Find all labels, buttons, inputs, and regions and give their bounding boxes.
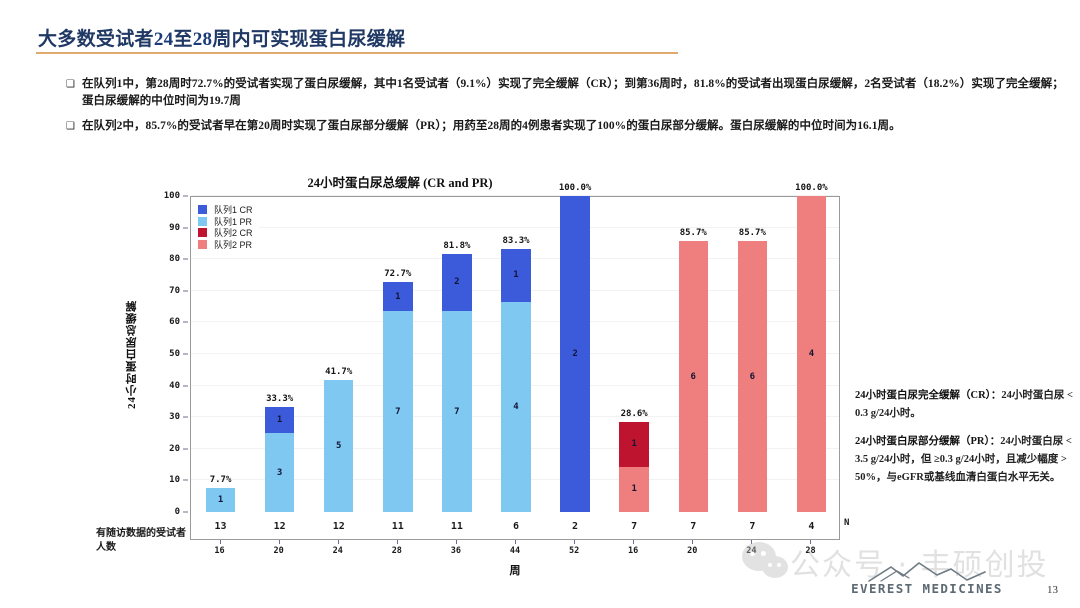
bar-segment-count: 7: [395, 407, 400, 417]
bar-segment-count: 7: [454, 407, 459, 417]
bar-segment[interactable]: 5: [324, 380, 354, 512]
bar[interactable]: 17.7%: [206, 488, 236, 512]
legend-label: 队列2 PR: [214, 238, 252, 251]
bar-segment-count: 6: [691, 372, 696, 382]
x-axis-tick-mark: [692, 540, 693, 544]
note-cr: 24小时蛋白尿完全缓解（CR）：24小时蛋白尿 < 0.3 g/24小时。: [855, 385, 1077, 421]
y-axis-label: 24小时蛋白尿总缓解: [122, 196, 142, 512]
bar-total-label: 28.6%: [621, 409, 648, 419]
bar-total-label: 7.7%: [210, 475, 232, 485]
y-axis-tick: 20: [150, 444, 180, 454]
bar-total-label: 83.3%: [502, 236, 529, 246]
y-axis-tick-mark: [183, 196, 188, 197]
title-part-suffix: 周内可实现蛋白尿缓解: [212, 29, 405, 50]
bullet-item: ❑ 在队列1中，第28周时72.7%的受试者实现了蛋白尿缓解，其中1名受试者（9…: [66, 76, 1066, 109]
n-count-cell: 7: [664, 512, 723, 540]
bar-segment-count: 4: [513, 402, 518, 412]
x-axis-tick: 16: [628, 546, 638, 556]
bar[interactable]: 7281.8%: [442, 254, 472, 512]
y-axis: 0102030405060708090100: [150, 196, 188, 512]
bar-segment[interactable]: 1: [501, 249, 531, 302]
x-axis-tick-mark: [810, 540, 811, 544]
x-axis-tick: 28: [805, 546, 815, 556]
bar[interactable]: 4100.0%: [797, 196, 827, 512]
bar[interactable]: 2100.0%: [560, 196, 590, 512]
x-axis-tick-mark: [220, 540, 221, 544]
bar-segment[interactable]: 4: [501, 302, 531, 512]
x-axis: 1620242836445216202428: [190, 540, 840, 558]
legend-swatch: [198, 228, 207, 237]
n-counts-row: 1312121111627774: [190, 512, 840, 540]
bar-segment-count: 4: [809, 349, 814, 359]
y-axis-tick-mark: [183, 290, 188, 291]
bullet-text: 在队列2中，85.7%的受试者早在第20周时实现了蛋白尿部分缓解（PR）；用药至…: [82, 118, 901, 135]
bar-segment[interactable]: 2: [442, 254, 472, 312]
x-axis-tick-mark: [456, 540, 457, 544]
bar-segment-count: 6: [750, 372, 755, 382]
y-axis-tick: 30: [150, 412, 180, 422]
x-axis-tick: 36: [451, 546, 461, 556]
bar-total-label: 85.7%: [680, 228, 707, 238]
bar-segment[interactable]: 4: [797, 196, 827, 512]
bar-total-label: 33.3%: [266, 394, 293, 404]
n-count-cell: 7: [605, 512, 664, 540]
x-axis-tick: 24: [746, 546, 756, 556]
bar-segment[interactable]: 6: [738, 241, 768, 512]
x-axis-tick: 20: [687, 546, 697, 556]
y-axis-tick: 50: [150, 349, 180, 359]
bar-segment[interactable]: 7: [383, 311, 413, 512]
bar-segment[interactable]: 7: [442, 311, 472, 512]
x-axis-tick-mark: [574, 540, 575, 544]
bar[interactable]: 7172.7%: [383, 282, 413, 512]
bar[interactable]: 3133.3%: [265, 407, 295, 512]
x-axis-tick: 44: [510, 546, 520, 556]
page-title: 大多数受试者24至28周内可实现蛋白尿缓解: [38, 24, 405, 51]
brand-name: EVEREST MEDICINES: [832, 581, 1022, 596]
bar-segment-count: 1: [631, 484, 636, 494]
n-count-cell: 13: [191, 512, 250, 540]
bar-segment-count: 1: [513, 270, 518, 280]
y-axis-tick: 80: [150, 254, 180, 264]
chart-title: 24小时蛋白尿总缓解 (CR and PR): [0, 172, 1080, 191]
gridline: [191, 195, 839, 196]
bar-segment-count: 1: [395, 292, 400, 302]
bar-segment[interactable]: 2: [560, 196, 590, 512]
chart-legend: 队列1 CR队列1 PR队列2 CR队列2 PR: [195, 201, 259, 253]
x-axis-tick-mark: [751, 540, 752, 544]
x-axis-tick: 52: [569, 546, 579, 556]
y-axis-tick: 10: [150, 475, 180, 485]
y-axis-tick-mark: [183, 259, 188, 260]
n-count-cell: 4: [782, 512, 841, 540]
n-axis-marker: N: [844, 518, 849, 528]
chart-title-text: 24小时蛋白尿总缓解 (CR and PR): [307, 172, 492, 191]
bar-segment[interactable]: 1: [619, 422, 649, 467]
bar[interactable]: 1128.6%: [619, 422, 649, 512]
bar-segment-count: 1: [218, 495, 223, 505]
y-axis-tick-mark: [183, 227, 188, 228]
bar[interactable]: 685.7%: [679, 241, 709, 512]
note-pr-heading: 24小时蛋白尿部分缓解（PR）：: [855, 436, 1000, 447]
definition-notes: 24小时蛋白尿完全缓解（CR）：24小时蛋白尿 < 0.3 g/24小时。 24…: [855, 385, 1077, 495]
bar-total-label: 85.7%: [739, 228, 766, 238]
legend-swatch: [198, 205, 207, 214]
x-axis-tick: 16: [214, 546, 224, 556]
legend-swatch: [198, 240, 207, 249]
bar[interactable]: 541.7%: [324, 380, 354, 512]
bar-total-label: 72.7%: [384, 269, 411, 279]
title-part-mid: 至: [173, 29, 192, 50]
n-count-cell: 12: [250, 512, 309, 540]
bar-segment-count: 2: [454, 277, 459, 287]
bar-total-label: 81.8%: [443, 241, 470, 251]
bar-segment[interactable]: 6: [679, 241, 709, 512]
chart-plot-area: 17.7%3133.3%541.7%7172.7%7281.8%4183.3%2…: [190, 196, 840, 512]
bar-segment-count: 3: [277, 468, 282, 478]
bullet-marker-icon: ❑: [66, 76, 82, 92]
note-cr-heading: 24小时蛋白尿完全缓解（CR）：: [855, 390, 1001, 401]
bar-segment[interactable]: 1: [206, 488, 236, 512]
bar-segment-count: 1: [277, 415, 282, 425]
y-axis-tick-mark: [183, 417, 188, 418]
note-pr: 24小时蛋白尿部分缓解（PR）：24小时蛋白尿 < 3.5 g/24小时，但 ≥…: [855, 431, 1077, 485]
bullet-list: ❑ 在队列1中，第28周时72.7%的受试者实现了蛋白尿缓解，其中1名受试者（9…: [66, 76, 1066, 144]
y-axis-tick: 0: [150, 507, 180, 517]
x-axis-tick: 20: [274, 546, 284, 556]
x-axis-label: 周: [190, 562, 840, 578]
x-axis-tick-mark: [279, 540, 280, 544]
bullet-item: ❑ 在队列2中，85.7%的受试者早在第20周时实现了蛋白尿部分缓解（PR）；用…: [66, 118, 1066, 135]
y-axis-tick: 60: [150, 317, 180, 327]
brand-logo: EVEREST MEDICINES: [832, 561, 1022, 596]
title-underline-rule: [36, 52, 678, 54]
y-axis-tick-mark: [183, 354, 188, 355]
title-number-24: 24: [154, 29, 174, 50]
n-count-cell: 11: [368, 512, 427, 540]
x-axis-tick: 24: [333, 546, 343, 556]
bar-segment[interactable]: 3: [265, 433, 295, 512]
bar-segment-count: 5: [336, 441, 341, 451]
n-count-cell: 6: [486, 512, 545, 540]
chart-plot: 17.7%3133.3%541.7%7172.7%7281.8%4183.3%2…: [191, 197, 839, 512]
x-axis-tick-mark: [338, 540, 339, 544]
y-axis-tick-mark: [183, 480, 188, 481]
n-count-cell: 12: [309, 512, 368, 540]
n-row-caption: 有随访数据的受试者人数: [96, 527, 188, 555]
mountain-icon: [867, 561, 987, 583]
y-axis-tick-mark: [183, 385, 188, 386]
y-axis-tick-mark: [183, 322, 188, 323]
bar-total-label: 100.0%: [559, 183, 592, 193]
n-count-cell: 7: [723, 512, 782, 540]
legend-item[interactable]: 队列2 PR: [198, 239, 253, 251]
y-axis-tick: 40: [150, 381, 180, 391]
y-axis-tick-mark: [183, 512, 188, 513]
bar-segment[interactable]: 1: [265, 407, 295, 433]
x-axis-tick-mark: [633, 540, 634, 544]
y-axis-label-text: 24小时蛋白尿总缓解: [124, 300, 140, 409]
bar-segment[interactable]: 1: [383, 282, 413, 311]
bar-segment-count: 2: [572, 349, 577, 359]
bullet-text: 在队列1中，第28周时72.7%的受试者实现了蛋白尿缓解，其中1名受试者（9.1…: [82, 76, 1066, 109]
legend-swatch: [198, 217, 207, 226]
x-axis-tick-mark: [397, 540, 398, 544]
x-axis-tick-mark: [515, 540, 516, 544]
bar[interactable]: 4183.3%: [501, 249, 531, 512]
y-axis-tick: 70: [150, 286, 180, 296]
bar-segment-count: 1: [631, 439, 636, 449]
x-axis-tick: 28: [392, 546, 402, 556]
n-count-cell: 2: [546, 512, 605, 540]
bar[interactable]: 685.7%: [738, 241, 768, 512]
bar-total-label: 100.0%: [795, 183, 828, 193]
y-axis-tick: 100: [150, 191, 180, 201]
y-axis-tick-mark: [183, 448, 188, 449]
page-number: 13: [1047, 584, 1058, 596]
bar-total-label: 41.7%: [325, 367, 352, 377]
title-number-28: 28: [193, 29, 213, 50]
n-count-cell: 11: [427, 512, 486, 540]
title-part-prefix: 大多数受试者: [38, 29, 154, 50]
y-axis-tick: 90: [150, 223, 180, 233]
bullet-marker-icon: ❑: [66, 118, 82, 134]
bar-segment[interactable]: 1: [619, 467, 649, 512]
